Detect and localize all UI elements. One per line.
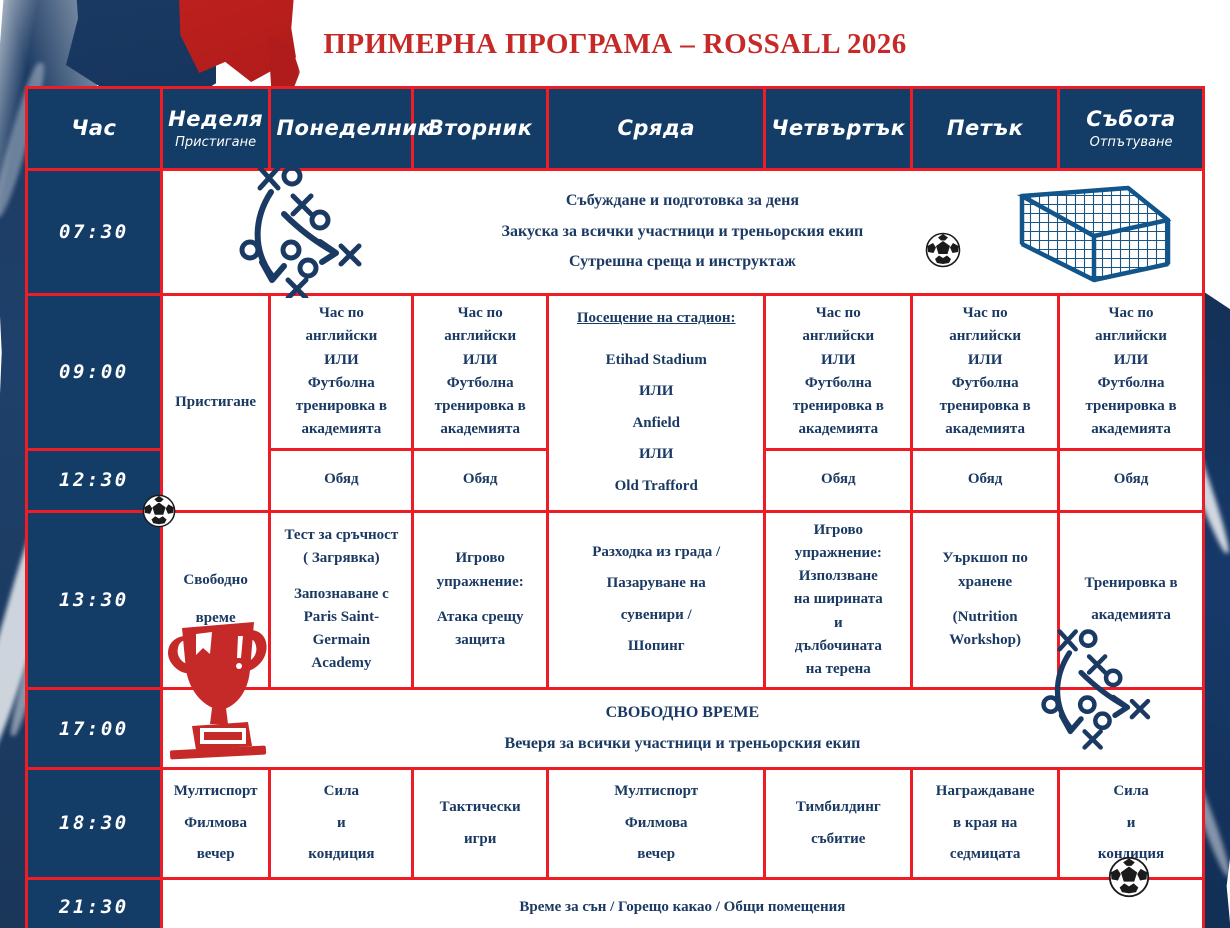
football-icon xyxy=(142,494,176,528)
header-time: Час xyxy=(27,88,162,170)
cell-sunday-arrival: Пристигане xyxy=(161,295,270,512)
free-evening-line-1: СВОБОДНО ВРЕМЕ xyxy=(606,704,760,721)
cell-free-evening: СВОБОДНО ВРЕМЕ Вечеря за всички участниц… xyxy=(161,689,1203,769)
eof-l2: английски xyxy=(444,328,516,344)
time-cell-1830: 18:30 xyxy=(27,769,162,879)
page-title: ПРИМЕРНА ПРОГРАМА – ROSSALL 2026 xyxy=(0,28,1230,61)
eof-l2: английски xyxy=(1095,328,1167,344)
eof-l5: тренировка в xyxy=(940,398,1031,414)
thu-e-l1: Тимбилдинг xyxy=(796,799,881,815)
cell-monday-lunch: Обяд xyxy=(270,449,413,511)
cell-saturday-1330: Тренировка в академията xyxy=(1059,511,1204,689)
sat-e-l1: Сила xyxy=(1113,783,1148,799)
time-cell-1330: 13:30 xyxy=(27,511,162,689)
wed-a-l2: Пазаруване на xyxy=(607,575,706,591)
table-row: 17:00 СВОБОДНО ВРЕМЕ Вечеря за всички уч… xyxy=(27,689,1204,769)
schedule-table: Час Неделя Пристигане Понеделник Вторник… xyxy=(25,86,1205,928)
free-time-l1: Свободно xyxy=(183,572,247,588)
eof-l5: тренировка в xyxy=(296,398,387,414)
eof-l6: академията xyxy=(302,421,382,437)
time-cell-2130: 21:30 xyxy=(27,878,162,928)
cell-thursday-lunch: Обяд xyxy=(765,449,912,511)
cell-wednesday-1330: Разходка из града / Пазаруване на сувени… xyxy=(548,511,765,689)
eof-l3: ИЛИ xyxy=(1114,352,1149,368)
tue-a-l1: Игрово xyxy=(455,550,504,566)
eof-l2: английски xyxy=(305,328,377,344)
cell-sunday-1830: Мултиспорт Филмова вечер xyxy=(161,769,270,879)
football-icon xyxy=(925,232,961,268)
stadium-heading: Посещение на стадион: xyxy=(554,303,758,335)
header-day-friday: Петък xyxy=(912,88,1059,170)
stadium-or-2: ИЛИ xyxy=(639,446,674,462)
cell-friday-1830: Награждаване в края на седмицата xyxy=(912,769,1059,879)
mon-e-l1: Сила xyxy=(324,783,359,799)
sun-e-l3: вечер xyxy=(197,846,235,862)
sun-e-l2: Филмова xyxy=(184,815,247,831)
eof-l6: академията xyxy=(1091,421,1171,437)
cell-tuesday-1830: Тактически игри xyxy=(413,769,548,879)
thu-a-l1: Игрово xyxy=(814,522,863,538)
eof-l5: тренировка в xyxy=(793,398,884,414)
cell-thursday-1330: Игрово упражнение: Използване на ширинат… xyxy=(765,511,912,689)
header-day-thursday: Четвъртък xyxy=(765,88,912,170)
header-day-saturday: Събота Отпътуване xyxy=(1059,88,1204,170)
fri-e-l1: Награждаване xyxy=(936,783,1035,799)
thu-a-l3: Използване xyxy=(799,568,878,584)
cell-monday-0900: Час по английски ИЛИ Футболна тренировка… xyxy=(270,295,413,450)
mon-a-l6: Academy xyxy=(311,655,371,671)
table-header-row: Час Неделя Пристигане Понеделник Вторник… xyxy=(27,88,1204,170)
cell-thursday-1830: Тимбилдинг събитие xyxy=(765,769,912,879)
fri-e-l3: седмицата xyxy=(950,846,1021,862)
table-row: 13:30 Свободно време Тест за сръчност ( … xyxy=(27,511,1204,689)
eof-l2: английски xyxy=(802,328,874,344)
cell-wednesday-stadium-visit: Посещение на стадион: Etihad Stadium ИЛИ… xyxy=(548,295,765,512)
eof-l3: ИЛИ xyxy=(463,352,498,368)
free-evening-line-2: Вечеря за всички участници и треньорския… xyxy=(505,735,861,752)
thu-a-l4: на ширината xyxy=(794,591,883,607)
cell-monday-1330: Тест за сръчност ( Загрявка) Запознаване… xyxy=(270,511,413,689)
morning-line-1: Събуждане и подготовка за деня xyxy=(566,192,799,209)
eof-l1: Час по xyxy=(319,305,364,321)
header-day-wednesday: Сряда xyxy=(548,88,765,170)
cell-tuesday-lunch: Обяд xyxy=(413,449,548,511)
eof-l3: ИЛИ xyxy=(821,352,856,368)
stadium-option-2: Anfield xyxy=(632,415,680,431)
fri-a-l3: (Nutrition xyxy=(953,609,1018,625)
stadium-or-1: ИЛИ xyxy=(639,383,674,399)
wed-a-l1: Разходка из града / xyxy=(592,544,720,560)
stadium-option-3: Old Trafford xyxy=(615,478,698,494)
cell-sunday-free-time: Свободно време xyxy=(161,511,270,689)
cell-friday-0900: Час по английски ИЛИ Футболна тренировка… xyxy=(912,295,1059,450)
header-day-monday: Понеделник xyxy=(270,88,413,170)
eof-l5: тренировка в xyxy=(1085,398,1176,414)
mon-a-l4: Paris Saint- xyxy=(304,609,379,625)
thu-a-l2: упражнение: xyxy=(795,545,882,561)
mon-a-l3: Запознаване с xyxy=(294,586,389,602)
cell-friday-lunch: Обяд xyxy=(912,449,1059,511)
mon-a-l5: Germain xyxy=(313,632,371,648)
mon-a-l1: Тест за сръчност xyxy=(285,527,399,543)
stadium-option-1: Etihad Stadium xyxy=(606,352,707,368)
cell-morning-routine: Събуждане и подготовка за деня Закуска з… xyxy=(161,170,1203,295)
cell-tuesday-1330: Игрово упражнение: Атака срещу защита xyxy=(413,511,548,689)
eof-l4: Футболна xyxy=(1098,375,1165,391)
time-cell-0900: 09:00 xyxy=(27,295,162,450)
fri-e-l2: в края на xyxy=(953,815,1017,831)
eof-l6: академията xyxy=(945,421,1025,437)
cell-night-routine: Време за сън / Горещо какао / Общи помещ… xyxy=(161,878,1203,928)
cell-friday-1330: Уъркшоп по хранене (Nutrition Workshop) xyxy=(912,511,1059,689)
wed-e-l1: Мултиспорт xyxy=(614,783,698,799)
sat-a-l1: Тренировка в xyxy=(1085,575,1178,591)
football-icon xyxy=(1108,856,1150,898)
tue-a-l3: Атака срещу xyxy=(437,609,524,625)
table-row: 09:00 Пристигане Час по английски ИЛИ Фу… xyxy=(27,295,1204,450)
eof-l4: Футболна xyxy=(308,375,375,391)
eof-l4: Футболна xyxy=(447,375,514,391)
tue-a-l4: защита xyxy=(455,632,505,648)
header-day-sunday: Неделя Пристигане xyxy=(161,88,270,170)
eof-l3: ИЛИ xyxy=(324,352,359,368)
eof-l6: академията xyxy=(440,421,520,437)
header-day-tuesday: Вторник xyxy=(413,88,548,170)
eof-l2: английски xyxy=(949,328,1021,344)
tue-e-l1: Тактически xyxy=(440,799,521,815)
fri-a-l4: Workshop) xyxy=(949,632,1021,648)
eof-l4: Футболна xyxy=(952,375,1019,391)
cell-tuesday-0900: Час по английски ИЛИ Футболна тренировка… xyxy=(413,295,548,450)
thu-a-l5: и xyxy=(834,615,843,631)
cell-wednesday-1830: Мултиспорт Филмова вечер xyxy=(548,769,765,879)
eof-l1: Час по xyxy=(458,305,503,321)
mon-e-l3: кондиция xyxy=(308,846,374,862)
morning-line-3: Сутрешна среща и инструктаж xyxy=(569,253,796,270)
sat-a-l2: академията xyxy=(1091,607,1171,623)
table-row: 21:30 Време за сън / Горещо какао / Общи… xyxy=(27,878,1204,928)
eof-l1: Час по xyxy=(1109,305,1154,321)
tue-a-l2: упражнение: xyxy=(437,574,524,590)
eof-l4: Футболна xyxy=(805,375,872,391)
mon-e-l2: и xyxy=(337,815,346,831)
table-row: 18:30 Мултиспорт Филмова вечер Сила и ко… xyxy=(27,769,1204,879)
fri-a-l2: хранене xyxy=(958,574,1012,590)
tue-e-l2: игри xyxy=(464,831,496,847)
free-time-l2: време xyxy=(196,610,236,626)
thu-a-l7: на терена xyxy=(806,661,871,677)
spacer xyxy=(918,594,1052,606)
wed-e-l3: вечер xyxy=(637,846,675,862)
eof-l1: Час по xyxy=(963,305,1008,321)
cell-thursday-0900: Час по английски ИЛИ Футболна тренировка… xyxy=(765,295,912,450)
fri-a-l1: Уъркшоп по xyxy=(942,550,1027,566)
cell-saturday-lunch: Обяд xyxy=(1059,449,1204,511)
schedule-table-wrapper: Час Неделя Пристигане Понеделник Вторник… xyxy=(25,86,1205,928)
cell-saturday-0900: Час по английски ИЛИ Футболна тренировка… xyxy=(1059,295,1204,450)
wed-e-l2: Филмова xyxy=(625,815,688,831)
thu-a-l6: дълбочината xyxy=(795,638,882,654)
wed-a-l4: Шопинг xyxy=(628,638,685,654)
eof-l6: академията xyxy=(798,421,878,437)
eof-l3: ИЛИ xyxy=(968,352,1003,368)
spacer xyxy=(419,594,541,606)
sun-e-l1: Мултиспорт xyxy=(174,783,258,799)
thu-e-l2: събитие xyxy=(811,831,865,847)
eof-l1: Час по xyxy=(816,305,861,321)
time-cell-1700: 17:00 xyxy=(27,689,162,769)
morning-line-2: Закуска за всички участници и треньорски… xyxy=(502,223,864,240)
table-row: 07:30 Събуждане и подготовка за деня Зак… xyxy=(27,170,1204,295)
cell-monday-1830: Сила и кондиция xyxy=(270,769,413,879)
sat-e-l2: и xyxy=(1127,815,1136,831)
spacer xyxy=(276,571,406,583)
mon-a-l2: ( Загрявка) xyxy=(303,550,379,566)
wed-a-l3: сувенири / xyxy=(621,607,692,623)
eof-l5: тренировка в xyxy=(435,398,526,414)
time-cell-0730: 07:30 xyxy=(27,170,162,295)
